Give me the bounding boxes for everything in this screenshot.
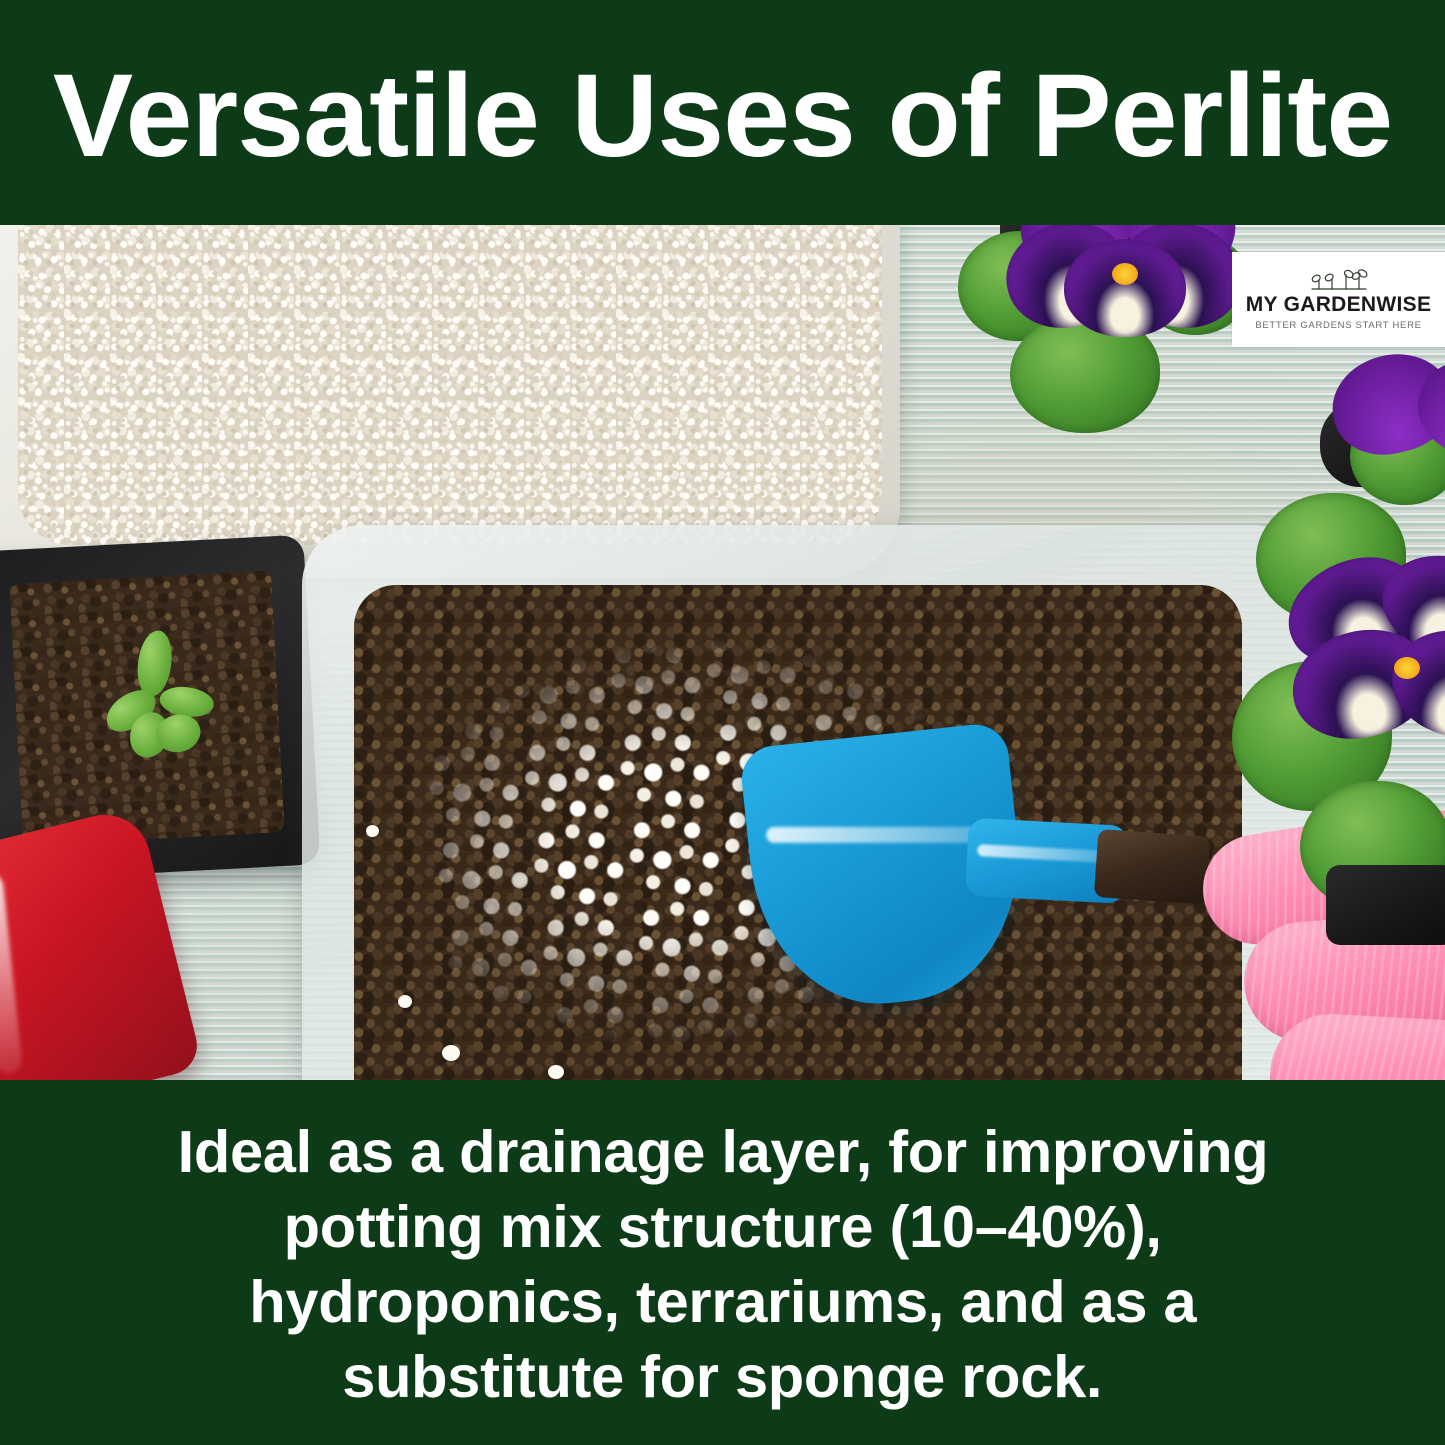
perlite-granule xyxy=(398,995,412,1008)
pansy-flower xyxy=(1286,561,1445,741)
caption-line-4: substitute for sponge rock. xyxy=(343,1340,1103,1415)
brand-name: MY GARDENWISE xyxy=(1246,294,1432,316)
perlite-granule xyxy=(442,1045,460,1061)
pansy-flower xyxy=(1006,225,1246,339)
perlite-granule xyxy=(548,1065,564,1079)
blue-trowel xyxy=(738,690,1257,1040)
sprout-seedlings-icon xyxy=(1308,268,1370,292)
pansy-petal xyxy=(1064,239,1186,337)
caption-line-2: potting mix structure (10–40%), xyxy=(283,1190,1161,1265)
pansy-center xyxy=(1394,657,1420,679)
seedling-plant xyxy=(106,627,233,763)
seedling-leaf xyxy=(137,630,172,697)
perlite-granules xyxy=(18,225,882,545)
pansy-flower xyxy=(1322,355,1445,505)
brand-logo[interactable]: MY GARDENWISE BETTER GARDENS START HERE xyxy=(1232,252,1445,347)
pansy-center xyxy=(1112,263,1138,285)
infographic-card: Versatile Uses of Perlite xyxy=(0,0,1445,1445)
perlite-granule xyxy=(366,825,379,837)
header-band: Versatile Uses of Perlite xyxy=(0,0,1445,225)
photo-area: MY GARDENWISE BETTER GARDENS START HERE xyxy=(0,225,1445,1080)
pansy-pot xyxy=(1326,865,1445,945)
caption-band: Ideal as a drainage layer, for improving… xyxy=(0,1080,1445,1445)
caption-line-3: hydroponics, terrariums, and as a xyxy=(249,1265,1196,1340)
page-title: Versatile Uses of Perlite xyxy=(53,57,1392,175)
caption-line-1: Ideal as a drainage layer, for improving xyxy=(177,1115,1268,1190)
brand-tagline: BETTER GARDENS START HERE xyxy=(1255,320,1421,331)
